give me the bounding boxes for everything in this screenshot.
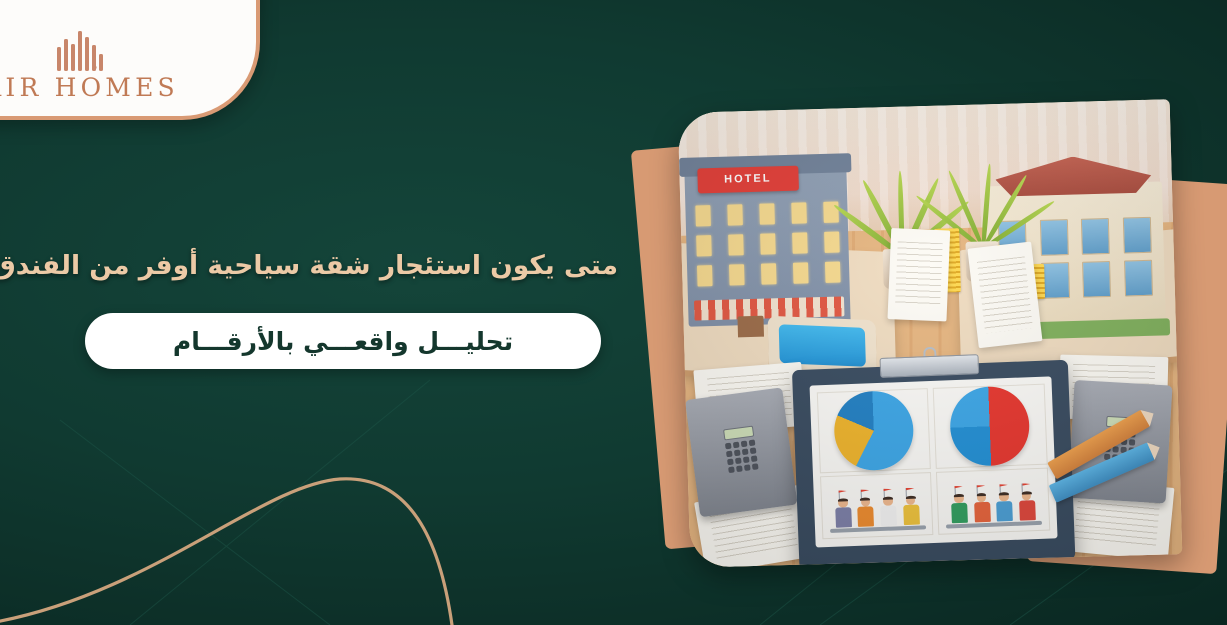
calculator-left bbox=[685, 387, 798, 517]
decorative-arc bbox=[0, 445, 520, 625]
brand-logo-plate[interactable]: AIR HOMES bbox=[0, 0, 260, 120]
person-figure bbox=[880, 496, 897, 528]
person-figure bbox=[996, 492, 1013, 524]
person-figure bbox=[974, 493, 991, 525]
person-figure bbox=[951, 494, 968, 526]
person-figure bbox=[858, 497, 875, 529]
invoice-document bbox=[968, 242, 1043, 349]
promo-banner: AIR HOMES متى يكون استئجار شقة سياحية أو… bbox=[0, 0, 1227, 625]
invoice-document bbox=[887, 228, 950, 321]
brand-wordmark: AIR HOMES bbox=[0, 73, 179, 102]
building-bars-icon bbox=[53, 27, 109, 71]
hotel-building: HOTEL bbox=[684, 167, 851, 326]
pie-chart-2 bbox=[833, 390, 915, 472]
person-figure bbox=[835, 498, 852, 530]
people-quadrant-1 bbox=[936, 468, 1050, 536]
chart-quadrant-1 bbox=[933, 384, 1048, 469]
person-figure bbox=[1019, 491, 1036, 523]
hero-illustration: HOTEL bbox=[640, 88, 1200, 558]
person-figure bbox=[903, 496, 920, 528]
page-title: متى يكون استئجار شقة سياحية أوفر من الفن… bbox=[48, 249, 618, 282]
illustration-card: HOTEL bbox=[678, 99, 1183, 568]
cta-button[interactable]: تحليـــل واقعـــي بالأرقـــام bbox=[85, 313, 601, 369]
clipboard-report bbox=[792, 360, 1075, 568]
hotel-sign-label: HOTEL bbox=[724, 173, 772, 186]
hotel-sign: HOTEL bbox=[697, 166, 798, 194]
chart-quadrant-2 bbox=[817, 388, 932, 473]
people-quadrant-2 bbox=[820, 472, 934, 540]
pie-chart-1 bbox=[949, 386, 1031, 468]
cta-button-label: تحليـــل واقعـــي بالأرقـــام bbox=[173, 327, 513, 356]
